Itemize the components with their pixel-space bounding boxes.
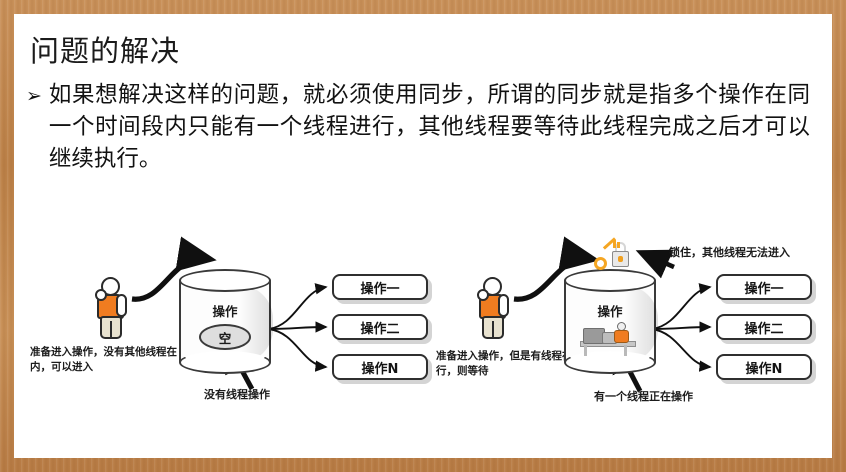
cylinder-left: 操作 空 bbox=[179, 269, 271, 373]
caption-left-person: 准备进入操作，没有其他线程在内，可以进入 bbox=[30, 345, 190, 375]
person-arm bbox=[498, 294, 509, 317]
person-arm-raised bbox=[95, 289, 107, 301]
padlock-keyhole bbox=[618, 256, 623, 262]
op-box-right-2[interactable]: 操作二 bbox=[716, 314, 812, 340]
workbench-leg-right bbox=[624, 345, 627, 356]
cylinder-right: 操作 bbox=[564, 269, 656, 373]
person-leg-divider bbox=[492, 321, 494, 339]
key-tooth-2 bbox=[617, 242, 620, 248]
cylinder-label-left: 操作 bbox=[179, 301, 271, 320]
bullet-body-text: 如果想解决这样的问题，就必须使用同步，所谓的同步就是指多个操作在同一个时间段内只… bbox=[49, 80, 810, 176]
caption-right-bottom: 有一个线程正在操作 bbox=[594, 389, 693, 404]
cylinder-bottom bbox=[179, 351, 271, 374]
key-bow bbox=[594, 257, 607, 270]
caption-lock: 锁住，其他线程无法进入 bbox=[669, 245, 790, 260]
lock-icon bbox=[592, 239, 638, 273]
diagram-locked: 准备进入操作，但是有线程在执行，则等待 操作 bbox=[414, 209, 832, 419]
page-title: 问题的解决 bbox=[30, 28, 180, 70]
person-leg-divider bbox=[110, 321, 112, 339]
workbench-leg-left bbox=[584, 345, 587, 356]
cylinder-label-right: 操作 bbox=[564, 301, 656, 320]
worker-torso bbox=[614, 330, 629, 343]
bullet-arrow-icon: ➢ bbox=[26, 80, 42, 106]
key-tooth-1 bbox=[613, 240, 616, 248]
cylinder-empty-badge: 空 bbox=[199, 324, 251, 350]
caption-left-bottom: 没有线程操作 bbox=[204, 387, 270, 402]
person-figure-right bbox=[472, 277, 516, 339]
person-figure-left bbox=[90, 277, 134, 339]
op-box-right-1[interactable]: 操作一 bbox=[716, 274, 812, 300]
diagram-unlocked: 准备进入操作，没有其他线程在内，可以进入 操作 空 没有线程操作 操作一 操作二… bbox=[14, 219, 434, 414]
slide-canvas: 问题的解决 ➢ 如果想解决这样的问题，就必须使用同步，所谓的同步就是指多个操作在… bbox=[14, 14, 832, 458]
slide-wood-frame: 问题的解决 ➢ 如果想解决这样的问题，就必须使用同步，所谓的同步就是指多个操作在… bbox=[0, 0, 846, 472]
op-box-right-3[interactable]: 操作N bbox=[716, 354, 812, 380]
worker-figure bbox=[580, 319, 638, 357]
person-arm bbox=[116, 294, 127, 317]
cylinder-top bbox=[179, 269, 271, 292]
bullet-paragraph: ➢ 如果想解决这样的问题，就必须使用同步，所谓的同步就是指多个操作在同一个时间段… bbox=[26, 80, 810, 176]
person-arm-raised bbox=[477, 289, 489, 301]
